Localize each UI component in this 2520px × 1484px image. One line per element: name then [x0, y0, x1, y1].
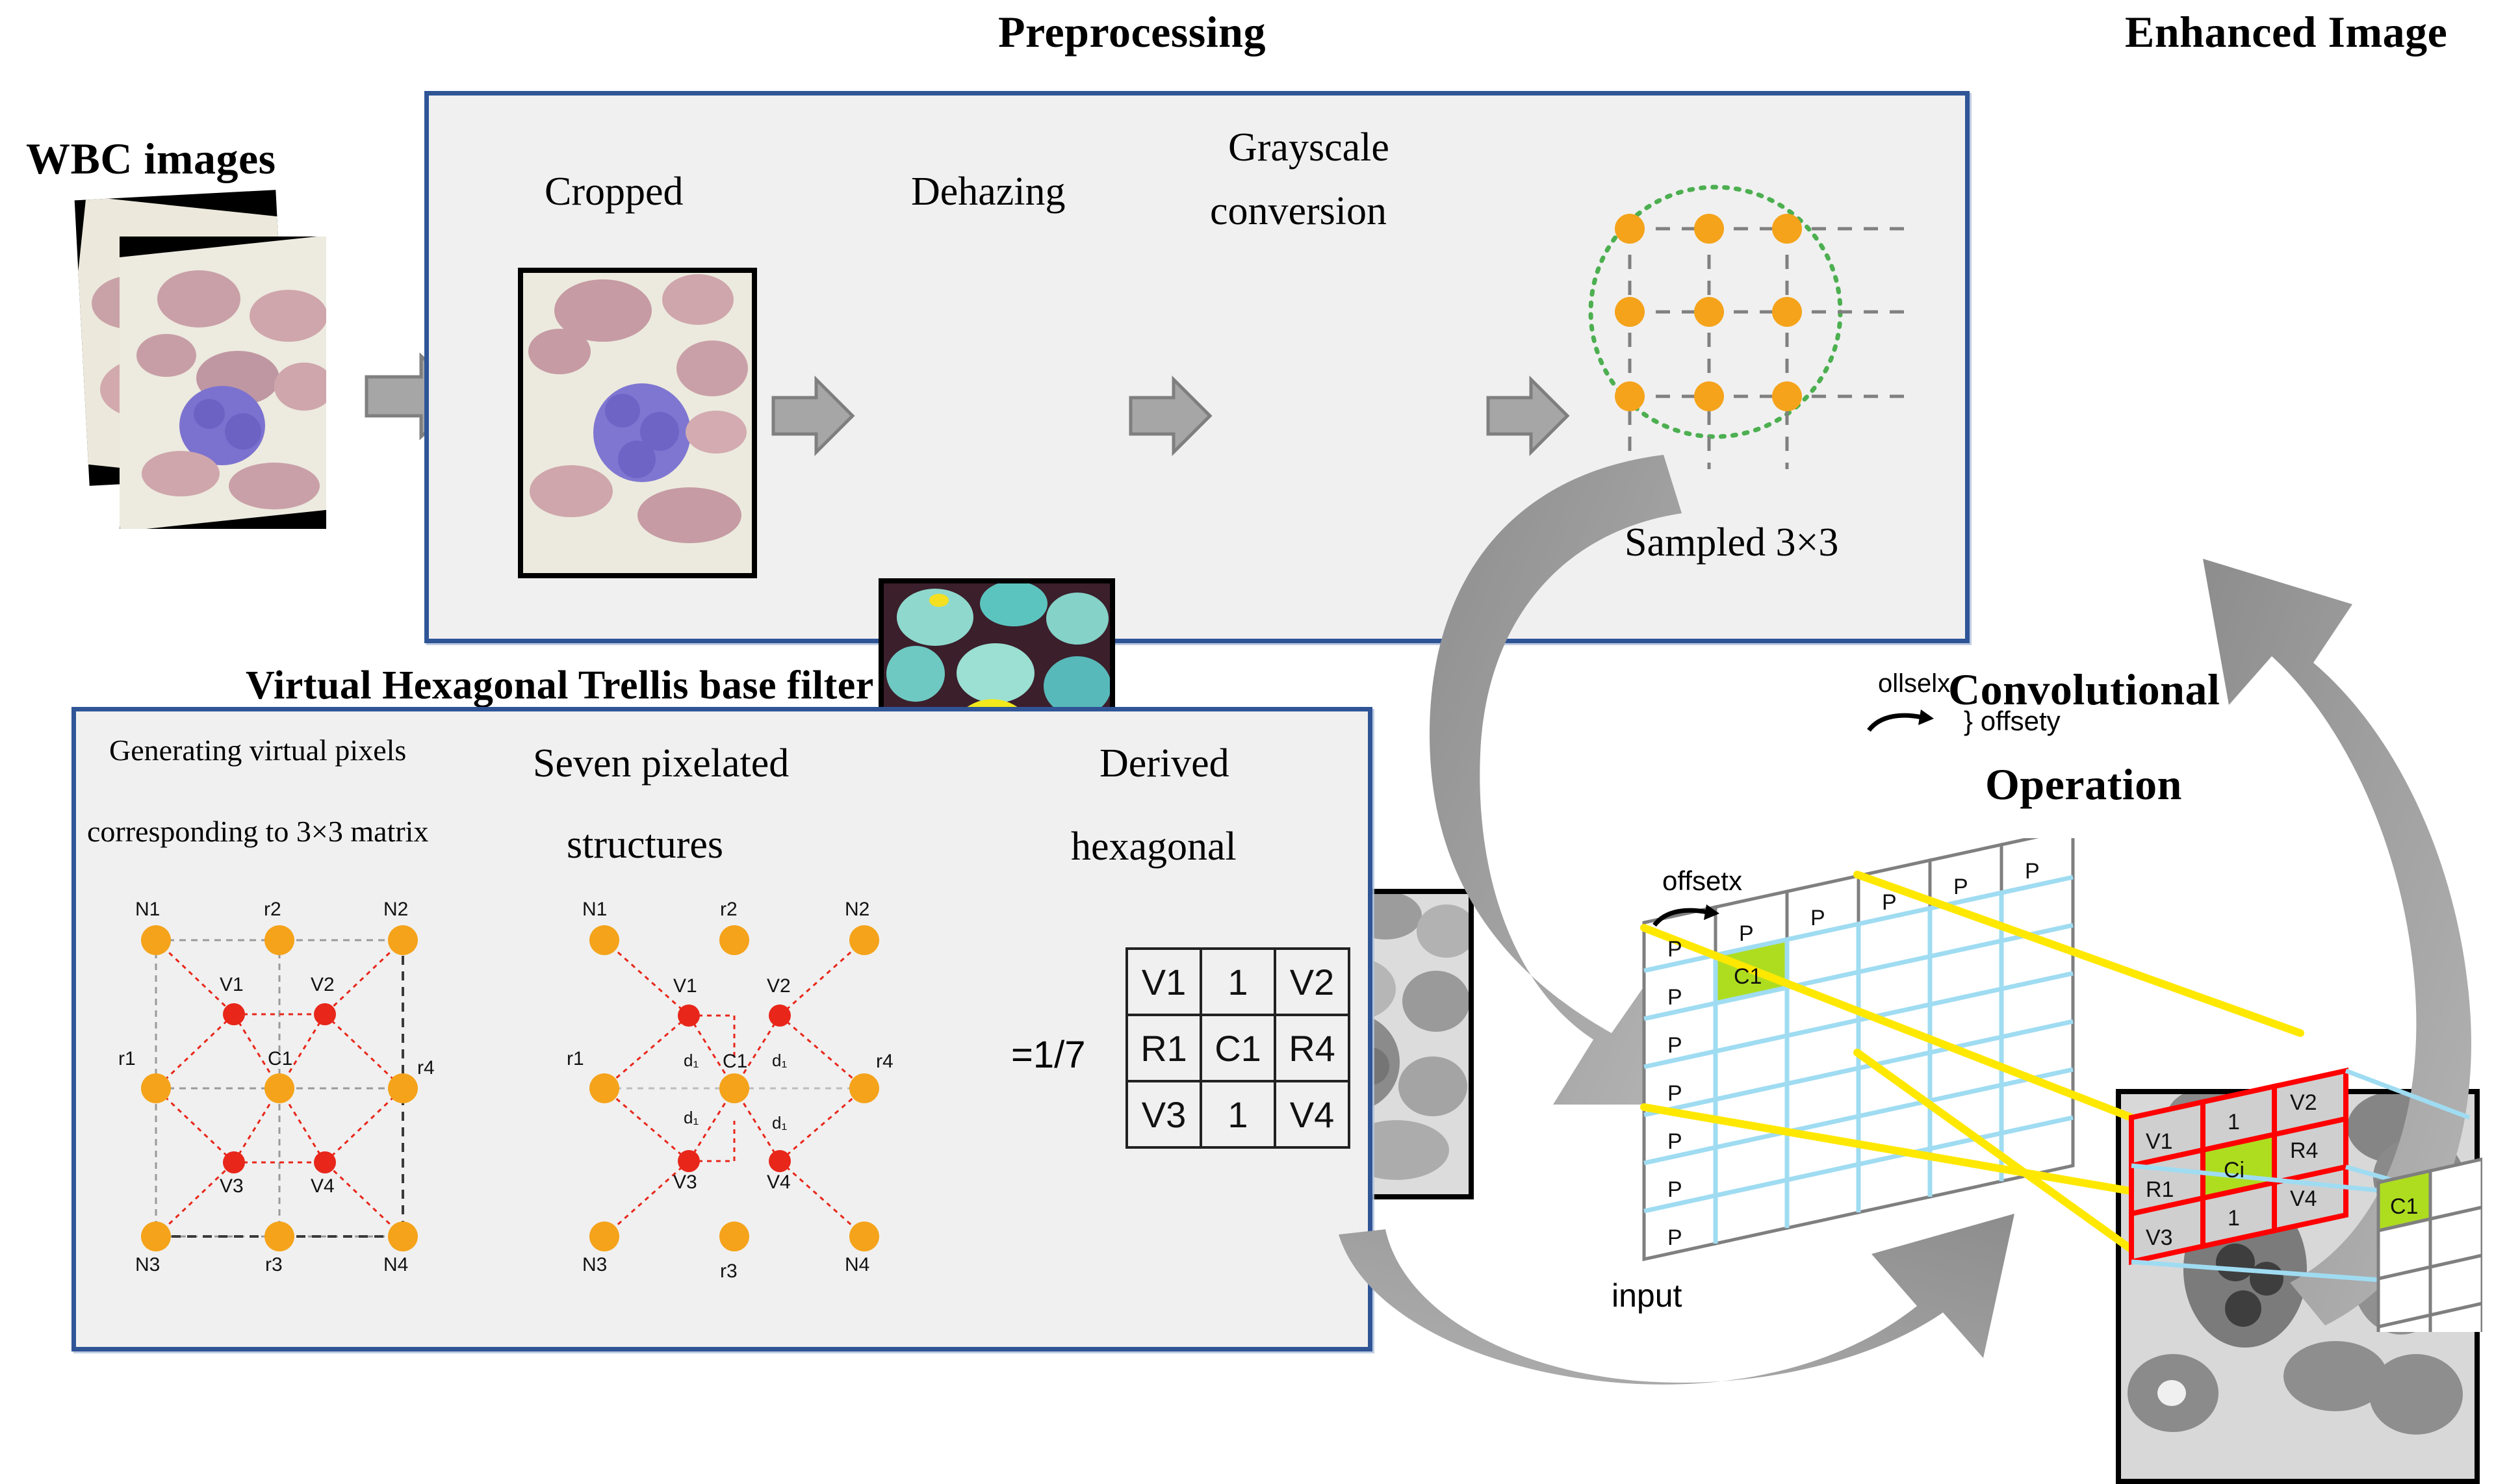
col1-title-line1: Generating virtual pixels: [109, 733, 406, 767]
col3-title-line2: hexagonal: [1071, 824, 1237, 870]
virtual-label-v4: V4: [311, 1175, 335, 1197]
matrix-cell: V2: [1275, 949, 1349, 1015]
col2-title-line1: Seven pixelated: [533, 741, 789, 787]
sample-dot: [1772, 381, 1802, 411]
node-label-n2: N2: [383, 899, 408, 921]
virtual-label-v3: V3: [673, 1171, 697, 1194]
kernel-cell-v3: V3: [2146, 1225, 2173, 1251]
sample-dot: [1694, 381, 1724, 411]
node-label-n4: N4: [383, 1254, 408, 1276]
wbc-image-front: [120, 237, 326, 529]
table-row: R1 C1 R4: [1127, 1015, 1349, 1081]
padding-cell-label: P: [1667, 1177, 1682, 1203]
offsetx-arrow-left: [1651, 903, 1729, 936]
input-center-cell-label: C1: [1734, 964, 1762, 990]
sample-dot: [1772, 214, 1802, 244]
matrix-cell: 1: [1201, 949, 1275, 1015]
flow-arrow-2: [771, 370, 855, 461]
offsetx-label-right: ollselx: [1878, 669, 1950, 698]
sample-dot: [1694, 297, 1724, 327]
step-label-cropped: Cropped: [545, 169, 684, 215]
node-dot: [849, 925, 879, 955]
virtual-node-dot: [678, 1004, 700, 1027]
node-label-r1: r1: [118, 1048, 136, 1070]
node-dot: [264, 1222, 294, 1251]
sample-dot: [1615, 214, 1645, 244]
distance-label-d1: d₁: [684, 1108, 699, 1128]
node-label-n2: N2: [845, 899, 869, 921]
padding-cell-label: P: [1667, 985, 1682, 1010]
virtual-node-dot: [769, 1004, 791, 1027]
node-dot: [264, 925, 294, 955]
table-row: V3 1 V4: [1127, 1081, 1349, 1147]
padding-cell-label: P: [1953, 875, 1968, 900]
virtual-node-dot: [314, 1003, 336, 1025]
kernel-cell-v4: V4: [2290, 1186, 2317, 1212]
matrix-cell: 1: [1201, 1081, 1275, 1147]
matrix-cell: V4: [1275, 1081, 1349, 1147]
matrix-cell: V3: [1127, 1081, 1201, 1147]
virtual-node-dot: [314, 1151, 336, 1173]
node-dot: [141, 1073, 171, 1103]
virtual-label-v1: V1: [220, 974, 244, 996]
kernel-cell-v2: V2: [2290, 1090, 2317, 1116]
kernel-cell-r4: R4: [2290, 1138, 2318, 1164]
node-label-c1: C1: [268, 1048, 292, 1070]
kernel-cell-v1: V1: [2146, 1129, 2173, 1155]
page-title-operation: Operation: [1985, 759, 2182, 810]
sample-dot: [1615, 381, 1645, 411]
input-label: input: [1612, 1277, 1682, 1314]
node-label-n3: N3: [582, 1254, 607, 1276]
offsety-label: } offsety: [1964, 706, 2061, 737]
node-label-r4: r4: [876, 1051, 894, 1073]
node-dot: [719, 1222, 749, 1251]
virtual-label-v1: V1: [673, 975, 697, 997]
col2-title-line2: structures: [567, 822, 723, 868]
node-dot: [849, 1073, 879, 1103]
node-label-r3: r3: [265, 1254, 283, 1276]
node-label-r1: r1: [567, 1048, 584, 1070]
node-dot: [388, 1073, 418, 1103]
page-title-preprocessing: Preprocessing: [998, 6, 1266, 58]
matrix-cell: V1: [1127, 949, 1201, 1015]
node-label-r4: r4: [417, 1057, 435, 1079]
node-dot: [589, 1222, 619, 1251]
virtual-node-dot: [678, 1150, 700, 1172]
distance-label-d1: d₁: [772, 1051, 787, 1071]
flow-arrow-3: [1128, 370, 1213, 461]
offsetx-arrow-right: [1865, 708, 1943, 741]
matrix-cell: R1: [1127, 1015, 1201, 1081]
virtual-node-dot: [223, 1151, 245, 1173]
node-dot: [141, 925, 171, 955]
padding-cell-label: P: [1667, 1129, 1682, 1155]
matrix-cell: R4: [1275, 1015, 1349, 1081]
distance-label-d1: d₁: [684, 1051, 699, 1071]
node-dot: [388, 1222, 418, 1251]
wbc-image-stack: [82, 195, 355, 546]
table-row: V1 1 V2: [1127, 949, 1349, 1015]
col3-title-line1: Derived: [1099, 741, 1229, 787]
distance-label-d1: d₁: [772, 1113, 787, 1133]
virtual-label-v4: V4: [767, 1171, 791, 1194]
node-label-n4: N4: [845, 1254, 869, 1276]
virtual-pixel-diagram: N1 r2 N2 r1 C1 r4 N3 r3 N4 V1 V2 V3 V4: [123, 906, 461, 1270]
padding-cell-label: P: [1882, 890, 1897, 915]
sampled-3x3-group: [1553, 170, 1917, 534]
node-label-n1: N1: [582, 899, 607, 921]
virtual-label-v3: V3: [220, 1175, 244, 1197]
sample-dot: [1772, 297, 1802, 327]
virtual-node-dot: [769, 1150, 791, 1172]
virtual-node-dot: [223, 1003, 245, 1025]
padding-cell-label: P: [1667, 1225, 1682, 1251]
node-dot: [388, 925, 418, 955]
node-label-n1: N1: [135, 899, 160, 921]
virtual-label-v2: V2: [767, 975, 791, 997]
sampled-3x3-caption: Sampled 3×3: [1625, 520, 1838, 566]
node-dot: [141, 1222, 171, 1251]
node-label-n3: N3: [135, 1254, 160, 1276]
seven-pixelated-diagram: N1 r2 N2 r1 C1 r4 N3 r3 N4 V1 V2 V3 V4 d…: [572, 906, 923, 1270]
node-dot: [589, 925, 619, 955]
sample-dot: [1615, 297, 1645, 327]
kernel-cell-r1: R1: [2146, 1177, 2174, 1203]
padding-cell-label: P: [1667, 1033, 1682, 1058]
sample-dot: [1694, 214, 1724, 244]
padding-cell-label: P: [1667, 937, 1682, 962]
filter-coefficient: =1/7: [1011, 1033, 1086, 1077]
convolution-diagram: P P P P P P P P P P P P C1 V1 1 V2 R1 Ci…: [1618, 838, 2482, 1332]
page-title-wbc-images: WBC images: [26, 133, 276, 185]
node-dot: [719, 925, 749, 955]
step-label-grayscale-line2: conversion: [1210, 188, 1387, 235]
col1-title-line2: corresponding to 3×3 matrix: [87, 814, 428, 849]
node-label-r3: r3: [720, 1260, 738, 1283]
step-label-dehazing: Dehazing: [911, 169, 1066, 215]
node-dot: [589, 1073, 619, 1103]
matrix-cell: C1: [1201, 1015, 1275, 1081]
node-label-r2: r2: [264, 899, 281, 921]
derived-hexagonal-matrix: V1 1 V2 R1 C1 R4 V3 1 V4: [1125, 947, 1350, 1149]
padding-cell-label: P: [1667, 1081, 1682, 1107]
node-dot: [264, 1073, 294, 1103]
padding-cell-label: P: [1739, 921, 1754, 947]
node-label-c1: C1: [723, 1051, 747, 1073]
padding-cell-label: P: [2025, 859, 2040, 884]
node-label-r2: r2: [720, 899, 738, 921]
padding-cell-label: P: [1810, 906, 1825, 931]
kernel-cell-ci: Ci: [2224, 1158, 2244, 1183]
page-title-enhanced-image: Enhanced Image: [2125, 6, 2447, 58]
kernel-cell-1a: 1: [2228, 1110, 2240, 1135]
node-dot: [849, 1222, 879, 1251]
step-label-grayscale-line1: Grayscale: [1228, 125, 1389, 171]
output-center-cell-label: C1: [2390, 1194, 2418, 1220]
image-cropped: [518, 268, 757, 578]
node-dot: [719, 1073, 749, 1103]
virtual-label-v2: V2: [311, 974, 335, 996]
offsetx-label-left: offsetx: [1662, 865, 1742, 897]
kernel-cell-1b: 1: [2228, 1206, 2240, 1231]
